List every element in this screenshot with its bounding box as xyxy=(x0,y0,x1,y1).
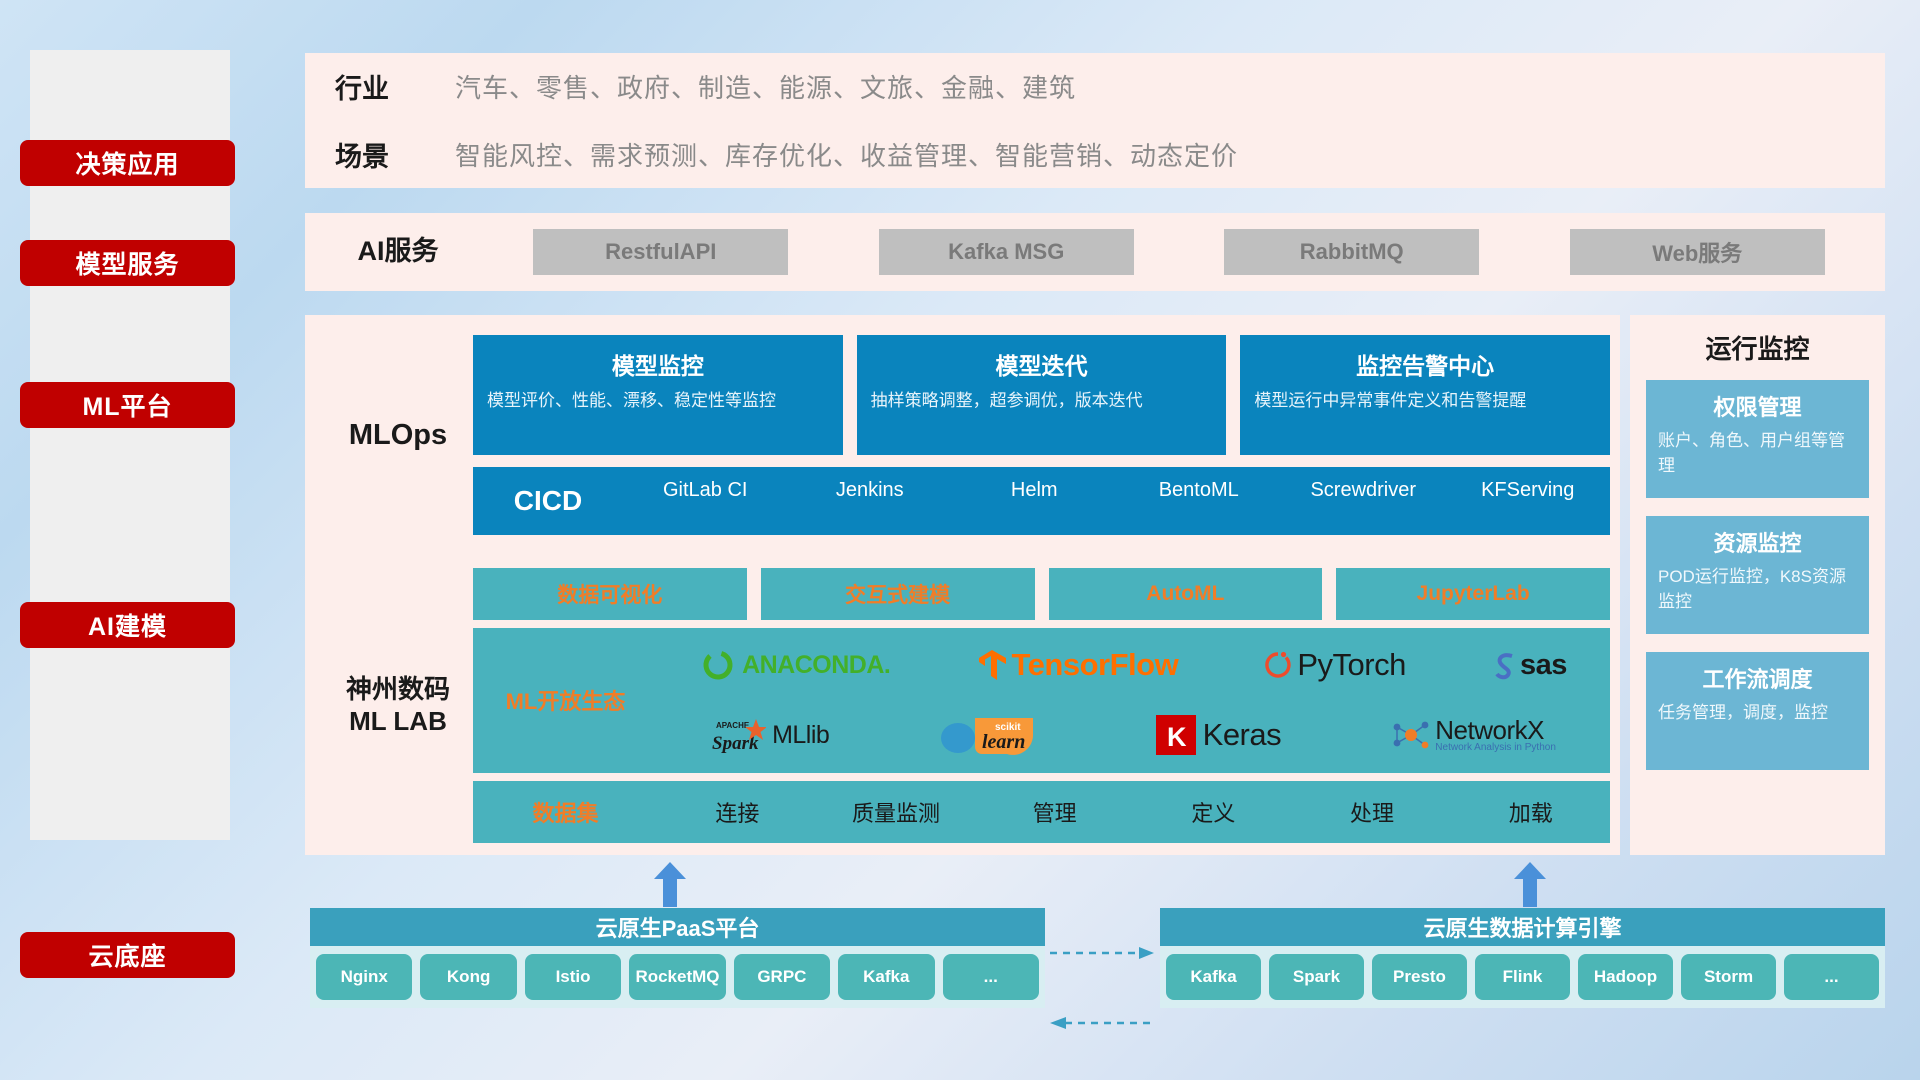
networkx-logo: NetworkX Network Analysis in Python xyxy=(1389,715,1556,755)
dataset-item[interactable]: 加载 xyxy=(1451,796,1610,828)
decision-application-panel: 行业 汽车、零售、政府、制造、能源、文旅、金融、建筑 场景 智能风控、需求预测、… xyxy=(305,53,1885,188)
mlops-body: 模型监控 模型评价、性能、漂移、稳定性等监控 模型迭代 抽样策略调整，超参调优，… xyxy=(473,327,1620,543)
dataset-item[interactable]: 定义 xyxy=(1134,796,1293,828)
ai-service-chip[interactable]: RestfulAPI xyxy=(533,229,788,275)
data-engine-pill[interactable]: Storm xyxy=(1681,954,1776,1000)
pytorch-wordmark: PyTorch xyxy=(1297,647,1405,683)
industry-row: 行业 汽车、零售、政府、制造、能源、文旅、金融、建筑 xyxy=(305,53,1885,121)
tensorflow-icon xyxy=(977,648,1007,682)
monitoring-card[interactable]: 权限管理 账户、角色、用户组等管理 xyxy=(1646,380,1869,498)
spark-icon: APACHE Spark xyxy=(712,715,766,755)
arrow-right-dashed-icon xyxy=(1050,945,1155,961)
mlops-card-list: 模型监控 模型评价、性能、漂移、稳定性等监控 模型迭代 抽样策略调整，超参调优，… xyxy=(473,335,1610,455)
engine-to-paas-arrow xyxy=(1050,1015,1155,1036)
keras-wordmark: Keras xyxy=(1203,717,1281,753)
mlops-card-title: 模型监控 xyxy=(487,347,829,381)
data-engine-pill-list: Kafka Spark Presto Flink Hadoop Storm ..… xyxy=(1160,946,1885,1008)
arrow-up-icon xyxy=(653,862,687,907)
ai-service-chip[interactable]: Kafka MSG xyxy=(879,229,1134,275)
dataset-item-list: 连接 质量监测 管理 定义 处理 加载 xyxy=(658,796,1610,828)
tensorflow-wordmark: TensorFlow xyxy=(1012,647,1179,683)
arrow-up-icon xyxy=(1513,862,1547,907)
ai-service-chip[interactable]: RabbitMQ xyxy=(1224,229,1479,275)
sas-wordmark: sas xyxy=(1520,649,1567,682)
monitoring-title: 运行监控 xyxy=(1646,329,1869,366)
rail-label: 云底座 xyxy=(88,937,166,973)
ml-lab-tab-list: 数据可视化 交互式建模 AutoML JupyterLab xyxy=(473,568,1610,620)
paas-title: 云原生PaaS平台 xyxy=(310,908,1045,946)
ml-lab-label-line2: ML LAB xyxy=(323,705,473,738)
ai-service-label: AI服务 xyxy=(323,235,473,269)
mlops-card-title: 模型迭代 xyxy=(871,347,1213,381)
paas-pill-list: Nginx Kong Istio RocketMQ GRPC Kafka ... xyxy=(310,946,1045,1008)
data-engine-pill[interactable]: Flink xyxy=(1475,954,1570,1000)
dataset-item[interactable]: 质量监测 xyxy=(817,796,976,828)
cloud-native-paas-group: 云原生PaaS平台 Nginx Kong Istio RocketMQ GRPC… xyxy=(310,908,1045,1008)
svg-text:K: K xyxy=(1167,722,1187,752)
scikit-learn-logo: scikit learn xyxy=(937,712,1047,758)
networkx-icon xyxy=(1389,715,1431,755)
spark-mllib-logo: APACHE Spark MLlib xyxy=(712,715,829,755)
cicd-bar: CICD GitLab CI Jenkins Helm BentoML Scre… xyxy=(473,467,1610,535)
scenario-row: 场景 智能风控、需求预测、库存优化、收益管理、智能营销、动态定价 xyxy=(305,121,1885,189)
rail-label: 决策应用 xyxy=(75,145,179,181)
dataset-label: 数据集 xyxy=(473,796,658,828)
monitoring-card[interactable]: 资源监控 POD运行监控，K8S资源监控 xyxy=(1646,516,1869,634)
dataset-row: 数据集 连接 质量监测 管理 定义 处理 加载 xyxy=(473,781,1610,843)
scikit-learn-icon: scikit learn xyxy=(937,712,1047,758)
cicd-item[interactable]: Helm xyxy=(952,479,1117,523)
mlops-panel: MLOps 模型监控 模型评价、性能、漂移、稳定性等监控 模型迭代 抽样策略调整… xyxy=(305,315,1620,555)
svg-text:learn: learn xyxy=(982,731,1025,753)
mlops-card-title: 监控告警中心 xyxy=(1254,347,1596,381)
paas-up-arrow xyxy=(653,862,687,907)
ai-service-chip-list: RestfulAPI Kafka MSG RabbitMQ Web服务 xyxy=(473,229,1885,275)
ml-lab-tab[interactable]: 交互式建模 xyxy=(761,568,1035,620)
monitoring-card-desc: 任务管理，调度，监控 xyxy=(1658,701,1857,726)
arrow-left-dashed-icon xyxy=(1050,1015,1155,1031)
rail-label: AI建模 xyxy=(88,607,167,643)
cicd-label: CICD xyxy=(473,485,623,517)
ml-ecosystem-label: ML开放生态 xyxy=(473,684,658,716)
svg-text:APACHE: APACHE xyxy=(716,721,750,730)
rail-item-ai-modeling[interactable]: AI建模 xyxy=(20,602,235,648)
ml-lab-tab[interactable]: AutoML xyxy=(1049,568,1323,620)
data-engine-pill[interactable]: Kafka xyxy=(1166,954,1261,1000)
diagram-canvas: 决策应用 模型服务 ML平台 AI建模 云底座 行业 汽车、零售、政府、制造、能… xyxy=(0,0,1920,1080)
data-engine-pill[interactable]: Spark xyxy=(1269,954,1364,1000)
monitoring-card-desc: 账户、角色、用户组等管理 xyxy=(1658,429,1857,478)
monitoring-card-title: 工作流调度 xyxy=(1658,662,1857,694)
paas-pill[interactable]: Kafka xyxy=(838,954,934,1000)
monitoring-card-title: 权限管理 xyxy=(1658,390,1857,422)
cicd-item[interactable]: Jenkins xyxy=(788,479,953,523)
anaconda-wordmark: ANACONDA. xyxy=(742,651,890,680)
runtime-monitoring-panel: 运行监控 权限管理 账户、角色、用户组等管理 资源监控 POD运行监控，K8S资… xyxy=(1630,315,1885,855)
ai-service-chip[interactable]: Web服务 xyxy=(1570,229,1825,275)
logo-row-2: APACHE Spark MLlib scikit learn xyxy=(658,701,1610,769)
paas-to-engine-arrow xyxy=(1050,945,1155,966)
ml-ecosystem-logos: ANACONDA. TensorFlow xyxy=(658,631,1610,769)
cicd-item[interactable]: BentoML xyxy=(1117,479,1282,523)
rail-item-ml-platform[interactable]: ML平台 xyxy=(20,382,235,428)
paas-pill[interactable]: RocketMQ xyxy=(629,954,725,1000)
data-engine-pill[interactable]: Hadoop xyxy=(1578,954,1673,1000)
sas-icon xyxy=(1492,650,1518,680)
paas-pill[interactable]: Istio xyxy=(525,954,621,1000)
mlops-card[interactable]: 监控告警中心 模型运行中异常事件定义和告警提醒 xyxy=(1240,335,1610,455)
paas-pill[interactable]: Kong xyxy=(420,954,516,1000)
data-engine-title: 云原生数据计算引擎 xyxy=(1160,908,1885,946)
mlops-card[interactable]: 模型迭代 抽样策略调整，超参调优，版本迭代 xyxy=(857,335,1227,455)
rail-item-decision-app[interactable]: 决策应用 xyxy=(20,140,235,186)
ml-lab-label-line1: 神州数码 xyxy=(323,673,473,706)
pytorch-logo: PyTorch xyxy=(1264,647,1405,683)
mlops-card[interactable]: 模型监控 模型评价、性能、漂移、稳定性等监控 xyxy=(473,335,843,455)
ml-lab-tab[interactable]: 数据可视化 xyxy=(473,568,747,620)
logo-row-1: ANACONDA. TensorFlow xyxy=(658,631,1610,699)
ml-ecosystem-row: ML开放生态 ANACONDA. T xyxy=(473,628,1610,773)
industry-value: 汽车、零售、政府、制造、能源、文旅、金融、建筑 xyxy=(455,68,1076,105)
cicd-item-list: GitLab CI Jenkins Helm BentoML Screwdriv… xyxy=(623,479,1610,523)
mlops-card-desc: 模型运行中异常事件定义和告警提醒 xyxy=(1254,389,1596,414)
dataset-item[interactable]: 处理 xyxy=(1293,796,1452,828)
scenario-label: 场景 xyxy=(335,135,455,174)
ml-lab-panel: 神州数码 ML LAB 数据可视化 交互式建模 AutoML JupyterLa… xyxy=(305,555,1620,855)
anaconda-logo: ANACONDA. xyxy=(701,648,890,682)
monitoring-card-desc: POD运行监控，K8S资源监控 xyxy=(1658,565,1857,614)
mlops-card-desc: 模型评价、性能、漂移、稳定性等监控 xyxy=(487,389,829,414)
rail-item-model-service[interactable]: 模型服务 xyxy=(20,240,235,286)
cicd-item[interactable]: KFServing xyxy=(1446,479,1611,523)
paas-pill[interactable]: ... xyxy=(943,954,1039,1000)
paas-pill[interactable]: GRPC xyxy=(734,954,830,1000)
cicd-item[interactable]: Screwdriver xyxy=(1281,479,1446,523)
mlops-card-desc: 抽样策略调整，超参调优，版本迭代 xyxy=(871,389,1213,414)
data-engine-up-arrow xyxy=(1513,862,1547,907)
data-engine-pill[interactable]: Presto xyxy=(1372,954,1467,1000)
monitoring-card[interactable]: 工作流调度 任务管理，调度，监控 xyxy=(1646,652,1869,770)
monitoring-card-title: 资源监控 xyxy=(1658,526,1857,558)
keras-logo: K Keras xyxy=(1156,715,1281,755)
dataset-item[interactable]: 管理 xyxy=(975,796,1134,828)
anaconda-icon xyxy=(701,648,735,682)
data-engine-pill[interactable]: ... xyxy=(1784,954,1879,1000)
rail-item-cloud-base[interactable]: 云底座 xyxy=(20,932,235,978)
ai-service-panel: AI服务 RestfulAPI Kafka MSG RabbitMQ Web服务 xyxy=(305,213,1885,291)
rail-label: 模型服务 xyxy=(75,245,179,281)
dataset-item[interactable]: 连接 xyxy=(658,796,817,828)
mlops-label: MLOps xyxy=(323,417,473,453)
industry-label: 行业 xyxy=(335,67,455,106)
rail-label: ML平台 xyxy=(82,387,172,423)
ml-lab-label: 神州数码 ML LAB xyxy=(323,673,473,738)
sas-logo: sas xyxy=(1492,649,1567,682)
tensorflow-logo: TensorFlow xyxy=(977,647,1179,683)
paas-pill[interactable]: Nginx xyxy=(316,954,412,1000)
cicd-item[interactable]: GitLab CI xyxy=(623,479,788,523)
ml-lab-body: 数据可视化 交互式建模 AutoML JupyterLab ML开放生态 ANA… xyxy=(473,560,1620,851)
scenario-value: 智能风控、需求预测、库存优化、收益管理、智能营销、动态定价 xyxy=(455,136,1238,173)
ml-lab-tab[interactable]: JupyterLab xyxy=(1336,568,1610,620)
keras-icon: K xyxy=(1156,715,1196,755)
cloud-native-data-engine-group: 云原生数据计算引擎 Kafka Spark Presto Flink Hadoo… xyxy=(1160,908,1885,1008)
pytorch-icon xyxy=(1264,648,1292,682)
